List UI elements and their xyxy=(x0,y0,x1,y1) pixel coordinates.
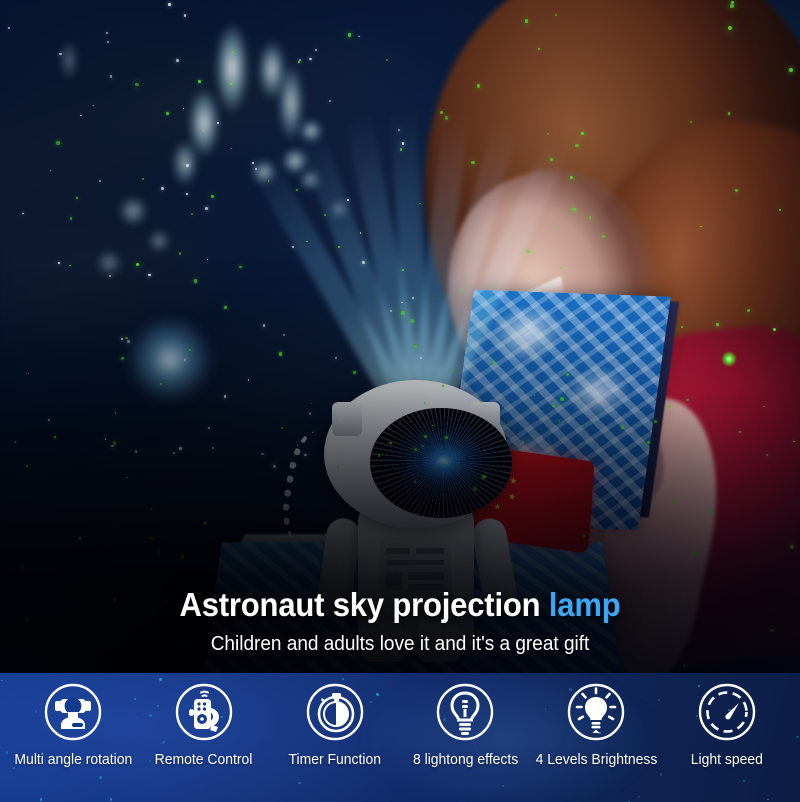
feature-label: Remote Control xyxy=(155,751,253,768)
feature-bar: Multi angle rotation xyxy=(0,673,800,802)
feature-item-timer-function[interactable]: Timer Function xyxy=(269,681,400,768)
hero-photo: ★ ★ ★ ★ ★ xyxy=(0,0,800,673)
speedometer-gauge-icon xyxy=(696,681,758,743)
page-subtitle: Children and adults love it and it's a g… xyxy=(20,633,780,656)
feature-list: Multi angle rotation xyxy=(0,673,800,802)
feature-label: Multi angle rotation xyxy=(14,751,132,768)
headline-main: Astronaut sky projection xyxy=(179,586,540,623)
feature-item-remote-control[interactable]: Remote Control xyxy=(139,681,270,768)
page-title: Astronaut sky projection lamp xyxy=(24,586,776,624)
feature-label: Light speed xyxy=(691,751,763,768)
feature-item-multi-angle-rotation[interactable]: Multi angle rotation xyxy=(8,681,139,768)
feature-label: Timer Function xyxy=(288,751,381,768)
feature-item-brightness-levels[interactable]: 4 Levels Brightness xyxy=(531,681,662,768)
photo-vignette xyxy=(0,0,800,673)
stopwatch-timer-icon xyxy=(304,681,366,743)
feature-item-light-effects[interactable]: 8 lightong effects xyxy=(400,681,531,768)
feature-label: 8 lightong effects xyxy=(413,751,518,768)
remote-control-icon xyxy=(173,681,235,743)
feature-item-light-speed[interactable]: Light speed xyxy=(661,681,792,768)
astronaut-helmet-icon xyxy=(42,681,104,743)
shining-lightbulb-icon xyxy=(565,681,627,743)
headline-accent: lamp xyxy=(549,586,621,623)
lightbulb-outline-icon xyxy=(434,681,496,743)
feature-label: 4 Levels Brightness xyxy=(535,751,657,768)
product-banner: ★ ★ ★ ★ ★ xyxy=(0,0,800,802)
